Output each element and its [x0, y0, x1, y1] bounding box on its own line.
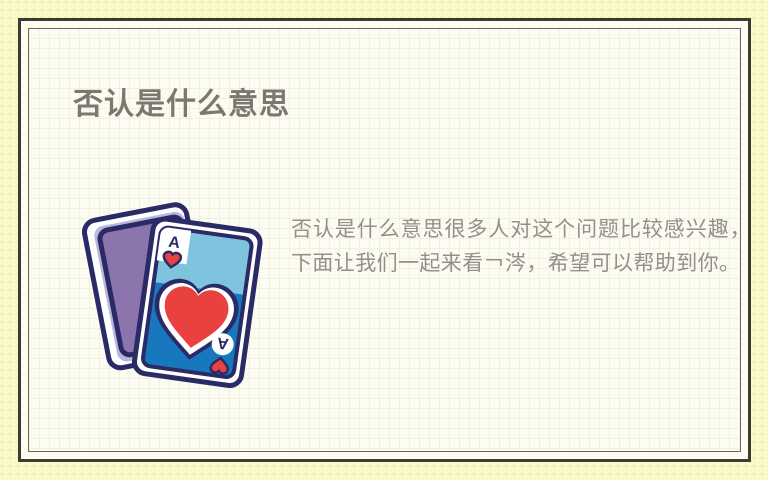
page-title: 否认是什么意思	[73, 86, 290, 124]
playing-cards-icon: A A	[77, 192, 272, 392]
inner-frame-border: 否认是什么意思	[28, 28, 741, 452]
page-canvas: 否认是什么意思	[0, 0, 768, 480]
card-ace-of-hearts: A A	[133, 218, 262, 388]
article-paragraph: 否认是什么意思很多人对这个问题比较感兴趣，下面让我们一起来看￢涔，希望可以帮助到…	[291, 212, 741, 280]
article-body: A A	[69, 184, 718, 394]
outer-frame-border: 否认是什么意思	[18, 18, 751, 462]
playing-cards-illustration: A A	[77, 192, 272, 392]
